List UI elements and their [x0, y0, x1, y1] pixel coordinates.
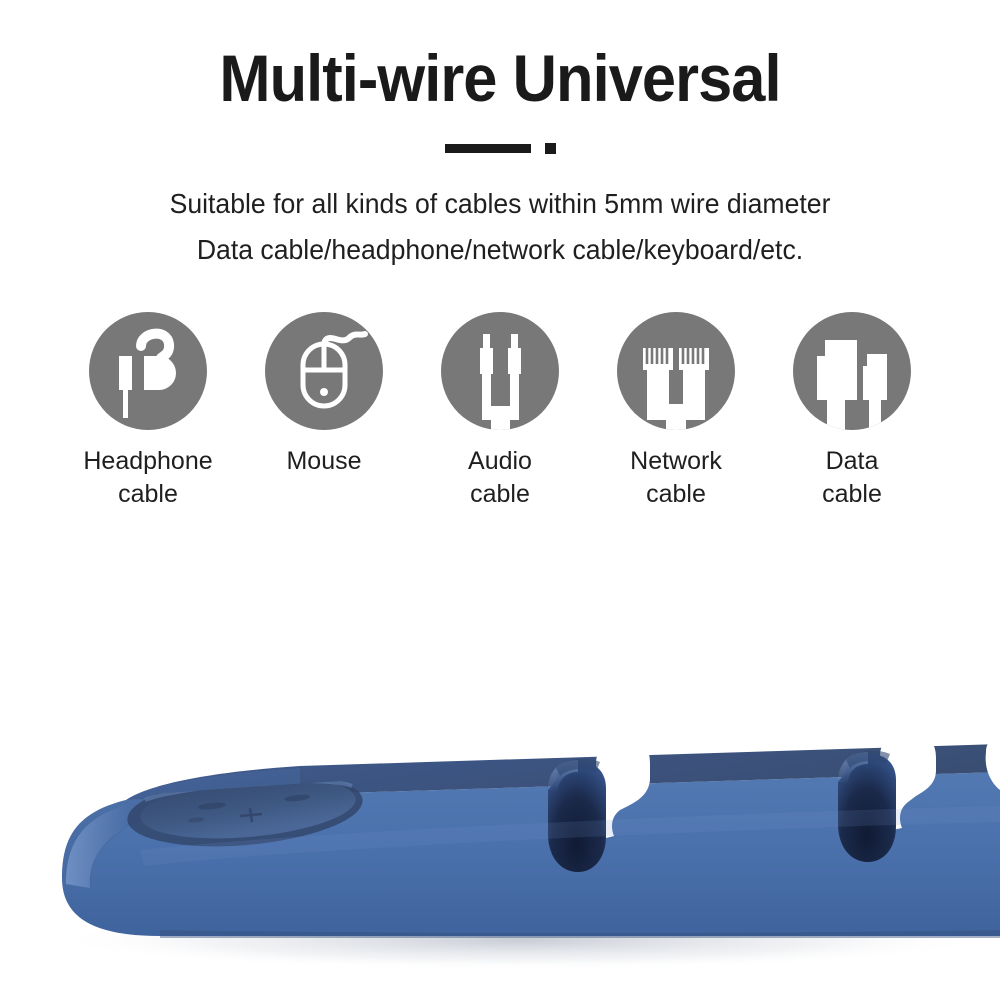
audio-cable-icon: [441, 312, 559, 430]
feature-circle: [441, 312, 559, 430]
feature-item-headphone-cable: Headphone cable: [88, 312, 208, 511]
network-cable-icon: [617, 312, 735, 430]
feature-circle: [89, 312, 207, 430]
mouse-icon: [265, 312, 383, 430]
feature-label: Data cable: [822, 445, 882, 511]
data-cable-icon: [793, 312, 911, 430]
feature-label: Mouse: [286, 445, 361, 478]
divider-bar: [445, 144, 531, 153]
feature-circle: [265, 312, 383, 430]
feature-label: Network cable: [630, 445, 722, 511]
feature-label: Headphone cable: [83, 445, 212, 511]
cable-organizer-illustration: [0, 640, 1000, 1000]
subtitle-line-1: Suitable for all kinds of cables within …: [25, 181, 975, 226]
feature-label: Audio cable: [468, 445, 532, 511]
subtitle-block: Suitable for all kinds of cables within …: [0, 181, 1000, 272]
divider: [0, 141, 1000, 155]
feature-item-mouse: Mouse: [264, 312, 384, 478]
feature-circle: [793, 312, 911, 430]
feature-icon-row: Headphone cable Mouse: [0, 312, 1000, 511]
feature-circle: [617, 312, 735, 430]
subtitle-line-2: Data cable/headphone/network cable/keybo…: [25, 227, 975, 272]
headphone-cable-icon: [89, 312, 207, 430]
feature-item-audio-cable: Audio cable: [440, 312, 560, 511]
feature-item-network-cable: Network cable: [616, 312, 736, 511]
page-title: Multi-wire Universal: [35, 44, 965, 113]
divider-dot: [545, 143, 556, 154]
feature-item-data-cable: Data cable: [792, 312, 912, 511]
header-section: Multi-wire Universal Suitable for all ki…: [0, 0, 1000, 272]
product-photo: [0, 640, 1000, 1000]
